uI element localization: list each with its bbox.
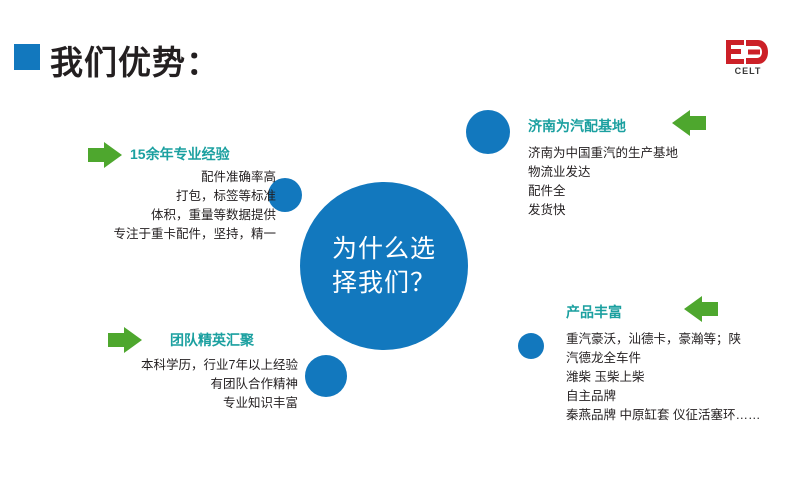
body-jinan-base-line-4: 发货快: [528, 201, 788, 220]
slide-canvas: 我们优势： CELT 为什么选 择我们？ 15余年专业经验 配件准确: [0, 0, 800, 480]
dot-products: [518, 333, 544, 359]
arrow-left-icon-products: [684, 296, 718, 322]
heading-products: 产品丰富: [566, 302, 622, 322]
body-experience-line-1: 配件准确率高: [0, 168, 276, 187]
body-products-line-4: 自主品牌: [566, 387, 800, 406]
heading-jinan-base: 济南为汽配基地: [528, 116, 626, 136]
body-experience-line-3: 体积，重量等数据提供: [0, 206, 276, 225]
heading-experience: 15余年专业经验: [130, 144, 230, 164]
center-label-line2: 择我们？: [332, 269, 436, 297]
arrow-left-icon-jinan-base: [672, 110, 706, 136]
logo-text: CELT: [714, 66, 782, 76]
celt-logo: CELT: [714, 38, 782, 80]
body-experience-line-4: 专注于重卡配件，坚持，精一: [0, 225, 276, 244]
body-products: 重汽豪沃，汕德卡，豪瀚等；陕 汽德龙全车件 潍柴 玉柴上柴 自主品牌 秦燕品牌 …: [566, 330, 800, 425]
body-products-line-2: 汽德龙全车件: [566, 349, 800, 368]
body-jinan-base-line-1: 济南为中国重汽的生产基地: [528, 144, 788, 163]
body-team: 本科学历，行业7年以上经验 有团队合作精神 专业知识丰富: [0, 356, 298, 413]
center-label-line1: 为什么选: [332, 235, 436, 263]
body-jinan-base: 济南为中国重汽的生产基地 物流业发达 配件全 发货快: [528, 144, 788, 220]
body-team-line-2: 有团队合作精神: [0, 375, 298, 394]
arrow-right-icon-experience: [88, 142, 122, 168]
body-products-line-3: 潍柴 玉柴上柴: [566, 368, 800, 387]
logo-mark-icon: [714, 38, 782, 68]
body-jinan-base-line-2: 物流业发达: [528, 163, 788, 182]
body-team-line-3: 专业知识丰富: [0, 394, 298, 413]
arrow-right-icon-team: [108, 327, 142, 353]
body-experience-line-2: 打包，标签等标准: [0, 187, 276, 206]
page-title: 我们优势：: [50, 36, 220, 84]
body-experience: 配件准确率高 打包，标签等标准 体积，重量等数据提供 专注于重卡配件，坚持，精一: [0, 168, 276, 244]
title-bullet-square: [14, 44, 40, 70]
body-products-line-5: 秦燕品牌 中原缸套 仪征活塞环……: [566, 406, 800, 425]
body-products-line-1: 重汽豪沃，汕德卡，豪瀚等；陕: [566, 330, 800, 349]
dot-team: [305, 355, 347, 397]
dot-jinan-base: [466, 110, 510, 154]
body-team-line-1: 本科学历，行业7年以上经验: [0, 356, 298, 375]
center-circle: 为什么选 择我们？: [300, 182, 468, 350]
heading-team: 团队精英汇聚: [170, 330, 254, 350]
body-jinan-base-line-3: 配件全: [528, 182, 788, 201]
center-circle-label: 为什么选 择我们？: [325, 232, 443, 300]
